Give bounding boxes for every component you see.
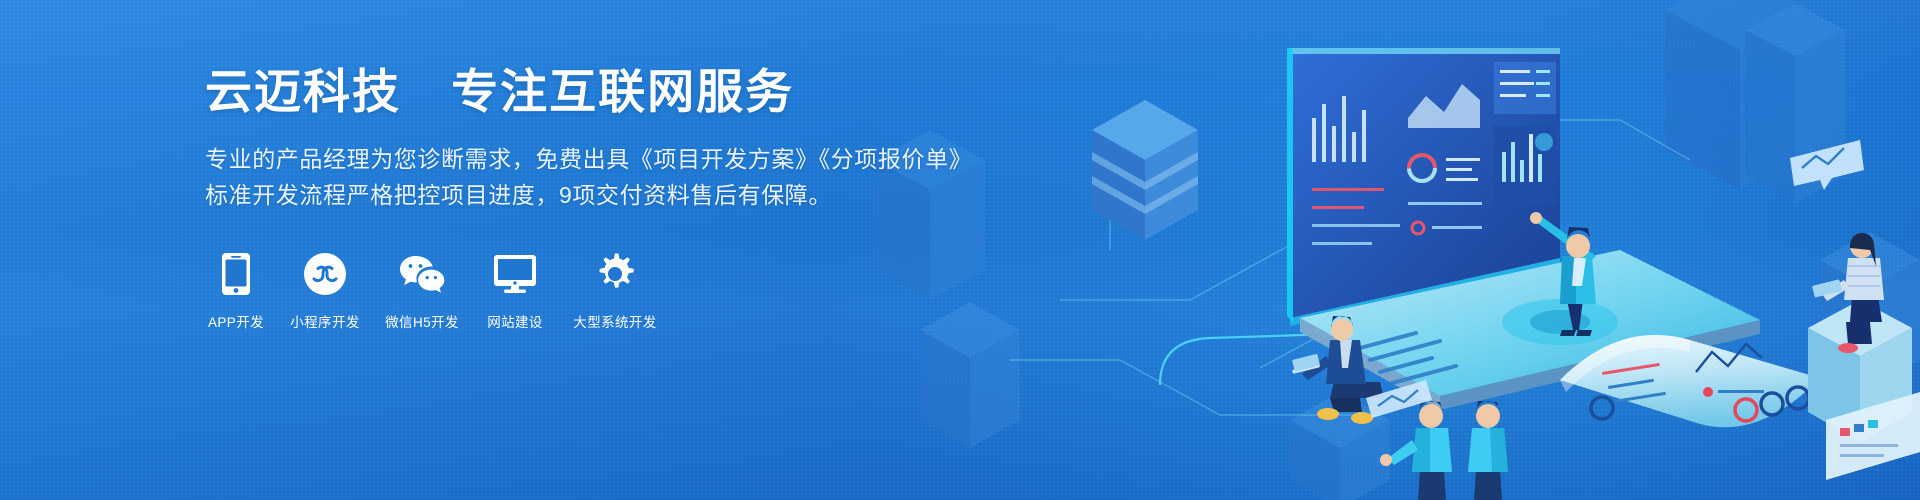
service-label: 大型系统开发 (573, 311, 656, 331)
isometric-illustration (860, 0, 1920, 500)
two-people-talking (1366, 380, 1508, 500)
wechat-icon (399, 251, 445, 297)
service-list: APP开发 小程序开发 (205, 251, 972, 331)
service-item-large-system[interactable]: 大型系统开发 (565, 251, 665, 331)
woman-on-block-laptop (1790, 140, 1912, 442)
service-label: 微信H5开发 (385, 311, 459, 331)
standing-person (1530, 212, 1596, 336)
subtitle-line-2: 标准开发流程严格把控项目进度，9项交付资料售后有保障。 (205, 177, 972, 213)
service-label: 网站建设 (487, 311, 543, 331)
service-item-website[interactable]: 网站建设 (477, 251, 553, 331)
service-item-wechat-h5[interactable]: 微信H5开发 (377, 251, 467, 331)
report-scroll (1560, 335, 1820, 427)
mobile-phone-icon (213, 251, 259, 297)
circuit-lines (1010, 120, 1690, 415)
service-label: APP开发 (208, 311, 264, 331)
dashboard-screen (1287, 48, 1560, 326)
banner-subtitle: 专业的产品经理为您诊断需求，免费出具《项目开发方案》《分项报价单》 标准开发流程… (205, 141, 972, 213)
monitor-icon (492, 251, 538, 297)
page-title: 云迈科技 专注互联网服务 (205, 66, 972, 119)
background-buildings (875, 0, 1920, 500)
headline-brand: 云迈科技 (205, 65, 401, 118)
service-label: 小程序开发 (290, 311, 360, 331)
banner-copy: 云迈科技 专注互联网服务 专业的产品经理为您诊断需求，免费出具《项目开发方案》《… (205, 66, 972, 331)
glow-path (1160, 290, 1620, 385)
headline-tagline: 专注互联网服务 (451, 65, 794, 118)
service-item-mini-program[interactable]: 小程序开发 (283, 251, 367, 331)
subtitle-line-1: 专业的产品经理为您诊断需求，免费出具《项目开发方案》《分项报价单》 (205, 141, 972, 177)
hero-banner: 云迈科技 专注互联网服务 专业的产品经理为您诊断需求，免费出具《项目开发方案》《… (0, 0, 1920, 500)
illustration-svg (860, 0, 1920, 500)
gear-icon (592, 251, 638, 297)
info-card (1826, 392, 1920, 480)
tablet-platform (1300, 250, 1760, 410)
seated-person-laptop (1292, 316, 1384, 424)
mini-program-icon (302, 251, 348, 297)
service-item-app[interactable]: APP开发 (205, 251, 267, 331)
server-stack (1092, 100, 1198, 240)
